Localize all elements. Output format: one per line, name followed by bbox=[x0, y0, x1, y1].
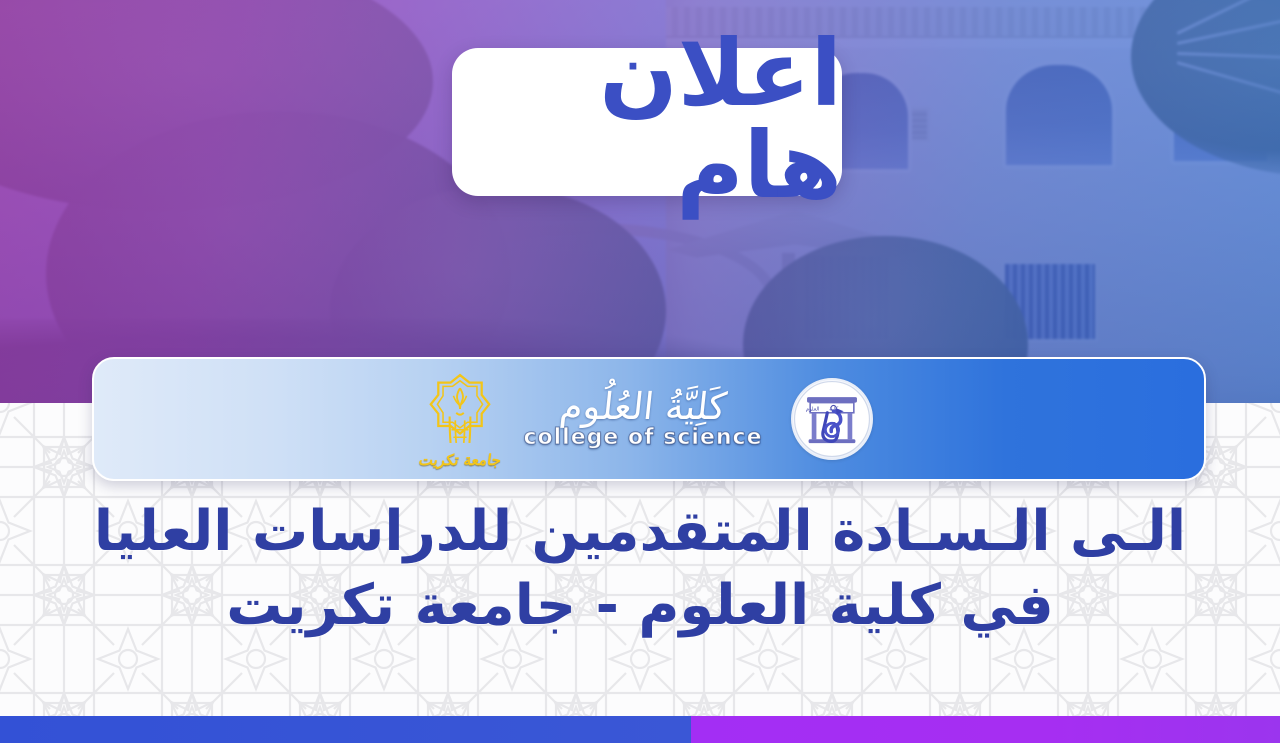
college-name-arabic: كَلِيَّةُ العُلُوم bbox=[558, 388, 728, 427]
university-name-arabic: جامعة تكريت bbox=[418, 451, 503, 469]
college-banner-bar: العلوم كلية كَلِيَّةُ العُلُوم college o… bbox=[92, 357, 1206, 481]
tikrit-university-logo-icon: جامعة تكريت bbox=[425, 371, 495, 467]
college-name-block: كَلِيَّةُ العُلُوم college of science bbox=[523, 388, 762, 450]
headline-line-2: في كلية العلوم - جامعة تكريت bbox=[0, 569, 1280, 643]
svg-text:العلوم: العلوم bbox=[805, 406, 819, 412]
bottom-color-strip bbox=[0, 716, 1280, 743]
poster-canvas: اعلان هام العلوم كلية bbox=[0, 0, 1280, 743]
college-seal-icon: العلوم كلية bbox=[791, 378, 873, 460]
headline: الـى الـسـادة المتقدمين للدراسات العليا … bbox=[0, 495, 1280, 644]
headline-line-1: الـى الـسـادة المتقدمين للدراسات العليا bbox=[0, 495, 1280, 569]
strip-segment-purple bbox=[691, 716, 1280, 743]
college-name-english: college of science bbox=[523, 425, 762, 450]
important-announcement-badge: اعلان هام bbox=[452, 48, 842, 196]
strip-segment-blue bbox=[0, 716, 691, 743]
badge-label: اعلان هام bbox=[452, 28, 842, 212]
